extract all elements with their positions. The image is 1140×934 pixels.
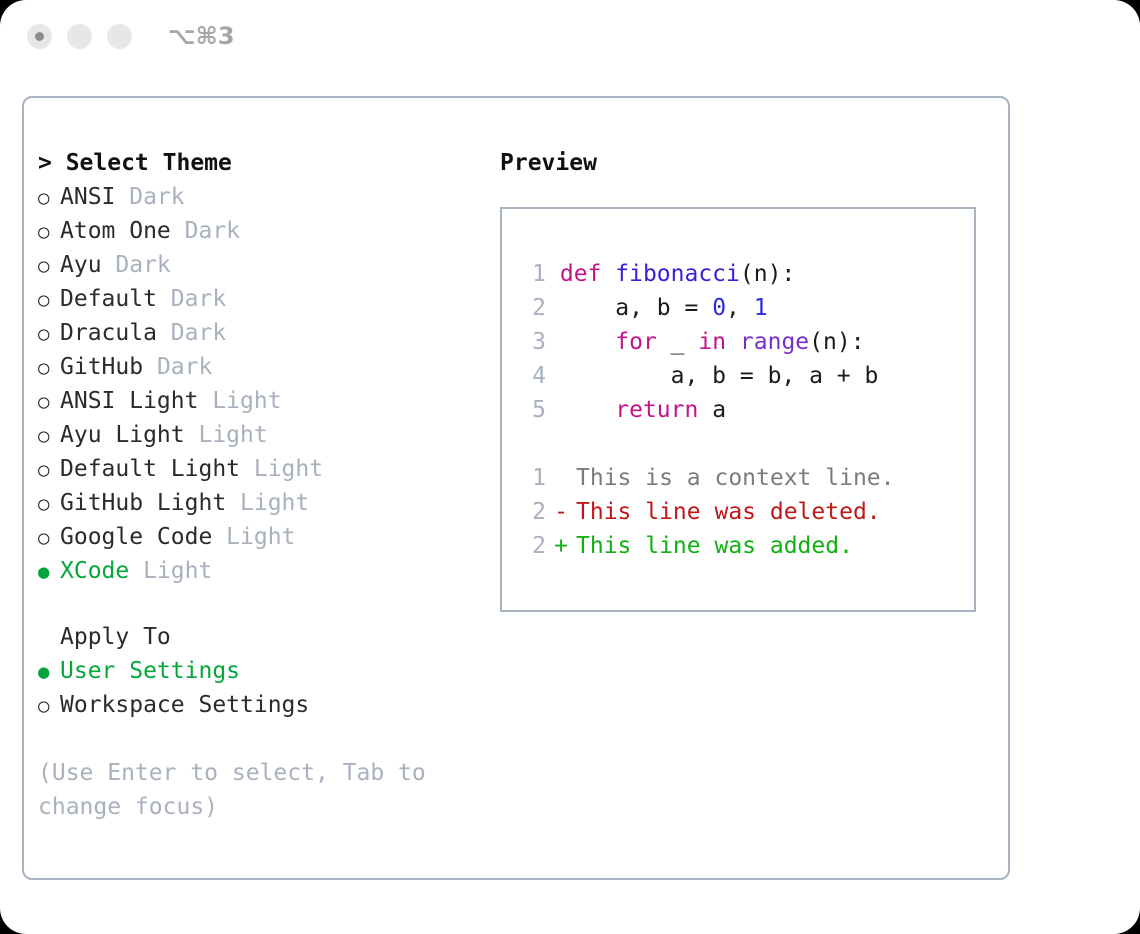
diff-text: This is a context line. [576, 465, 895, 491]
radio-icon: ○ [38, 419, 60, 453]
theme-option-variant-tag: Light [198, 384, 281, 418]
radio-icon: ○ [38, 689, 60, 723]
code-token: , [726, 295, 754, 321]
preview-column: Preview 1 def fibonacci(n):2 a, b = 0, 1… [500, 146, 1000, 612]
code-line-number: 2 [524, 291, 546, 325]
code-token: (n): [809, 329, 864, 355]
code-token: range [740, 329, 809, 355]
theme-option[interactable]: ○Google Code Light [38, 520, 498, 554]
theme-option[interactable]: ○Ayu Dark [38, 248, 498, 282]
radio-icon: ○ [38, 249, 60, 283]
theme-option[interactable]: ○ANSI Dark [38, 180, 498, 214]
code-token: 1 [754, 295, 768, 321]
diff-line-number: 1 [524, 461, 546, 495]
theme-option-label: ANSI Light [60, 384, 198, 418]
theme-option-variant-tag: Light [185, 418, 268, 452]
theme-option[interactable]: ○GitHub Light Light [38, 486, 498, 520]
diff-line: 2-This line was deleted. [524, 495, 895, 529]
theme-option-variant-tag: Dark [157, 316, 226, 350]
theme-option-label: Atom One [60, 214, 171, 248]
theme-list: ○ANSI Dark○Atom One Dark○Ayu Dark○Defaul… [38, 180, 498, 588]
radio-icon: ○ [38, 351, 60, 385]
diff-line-number: 2 [524, 529, 546, 563]
keyboard-hint-text: (Use Enter to select, Tab to change focu… [38, 756, 448, 824]
theme-option-label: Dracula [60, 316, 157, 350]
theme-option-variant-tag: Dark [115, 180, 184, 214]
diff-text: This line was added. [576, 533, 853, 559]
theme-option-variant-tag: Dark [143, 350, 212, 384]
diff-sign: + [546, 529, 576, 563]
code-token: a, b = [560, 295, 712, 321]
code-token: def [560, 261, 615, 287]
theme-option[interactable]: ○Default Light Light [38, 452, 498, 486]
apply-to-option[interactable]: ○Workspace Settings [38, 688, 498, 722]
diff-sample: 1 This is a context line.2-This line was… [524, 461, 895, 563]
theme-option-variant-tag: Light [226, 486, 309, 520]
apply-to-list: ●User Settings○Workspace Settings [38, 654, 498, 722]
preview-heading: Preview [500, 146, 1000, 180]
theme-option[interactable]: ●XCode Light [38, 554, 498, 588]
code-line-number: 1 [524, 257, 546, 291]
theme-option[interactable]: ○GitHub Dark [38, 350, 498, 384]
radio-icon: ○ [38, 521, 60, 555]
keyboard-shortcut-label: ⌥⌘3 [168, 22, 235, 50]
code-token: a, b = b, a + b [560, 363, 879, 389]
select-theme-heading: > Select Theme [38, 146, 498, 180]
radio-icon: ○ [38, 317, 60, 351]
code-line: 5 return a [524, 393, 878, 427]
apply-to-option-label: User Settings [60, 654, 240, 688]
app-window: ⌥⌘3 > Select Theme ○ANSI Dark○Atom One D… [0, 0, 1140, 934]
code-token [726, 329, 740, 355]
theme-option[interactable]: ○Default Dark [38, 282, 498, 316]
theme-option-label: GitHub Light [60, 486, 226, 520]
code-line: 3 for _ in range(n): [524, 325, 878, 359]
code-line-number: 4 [524, 359, 546, 393]
theme-option-label: Default [60, 282, 157, 316]
theme-option-label: XCode [60, 554, 129, 588]
radio-icon: ○ [38, 181, 60, 215]
theme-option-variant-tag: Light [129, 554, 212, 588]
code-line: 2 a, b = 0, 1 [524, 291, 878, 325]
theme-option-variant-tag: Dark [157, 282, 226, 316]
code-line-number: 5 [524, 393, 546, 427]
diff-text: This line was deleted. [576, 499, 881, 525]
theme-option-label: GitHub [60, 350, 143, 384]
theme-option-label: Ayu [60, 248, 102, 282]
window-controls [27, 24, 132, 49]
theme-option-variant-tag: Dark [102, 248, 171, 282]
code-line: 1 def fibonacci(n): [524, 257, 878, 291]
code-token: a [698, 397, 726, 423]
theme-option-label: Google Code [60, 520, 212, 554]
theme-option-variant-tag: Light [212, 520, 295, 554]
window-titlebar: ⌥⌘3 [0, 0, 1140, 78]
radio-selected-icon: ● [38, 555, 60, 589]
radio-icon: ○ [38, 385, 60, 419]
code-line-number: 3 [524, 325, 546, 359]
radio-icon: ○ [38, 215, 60, 249]
diff-line-number: 2 [524, 495, 546, 529]
radio-icon: ○ [38, 283, 60, 317]
apply-to-option-label: Workspace Settings [60, 688, 309, 722]
code-token: for [615, 329, 657, 355]
code-token [560, 329, 615, 355]
theme-option-variant-tag: Light [240, 452, 323, 486]
theme-option[interactable]: ○Ayu Light Light [38, 418, 498, 452]
code-token: return [615, 397, 698, 423]
code-token: fibonacci [615, 261, 740, 287]
diff-line: 1 This is a context line. [524, 461, 895, 495]
radio-icon: ○ [38, 453, 60, 487]
window-dot-second[interactable] [67, 24, 92, 49]
theme-option[interactable]: ○Dracula Dark [38, 316, 498, 350]
code-line: 4 a, b = b, a + b [524, 359, 878, 393]
preview-box: 1 def fibonacci(n):2 a, b = 0, 13 for _ … [500, 207, 976, 612]
apply-to-label: Apply To [60, 620, 171, 654]
diff-sign: - [546, 495, 576, 529]
code-token: 0 [712, 295, 726, 321]
radio-selected-icon: ● [38, 655, 60, 689]
diff-line: 2+This line was added. [524, 529, 895, 563]
theme-option[interactable]: ○Atom One Dark [38, 214, 498, 248]
code-sample: 1 def fibonacci(n):2 a, b = 0, 13 for _ … [524, 257, 878, 427]
main-panel: > Select Theme ○ANSI Dark○Atom One Dark○… [22, 96, 1010, 880]
apply-to-heading: Apply To [38, 620, 498, 654]
code-token: in [698, 329, 726, 355]
window-dot-inner-icon [35, 32, 44, 41]
code-token: _ [657, 329, 699, 355]
code-token [560, 397, 615, 423]
window-dot-active[interactable] [27, 24, 52, 49]
theme-option-label: Ayu Light [60, 418, 185, 452]
apply-to-option[interactable]: ●User Settings [38, 654, 498, 688]
diff-sign [546, 461, 576, 495]
theme-option-label: ANSI [60, 180, 115, 214]
code-token: (n): [740, 261, 795, 287]
theme-option[interactable]: ○ANSI Light Light [38, 384, 498, 418]
theme-option-variant-tag: Dark [171, 214, 240, 248]
radio-icon: ○ [38, 487, 60, 521]
theme-option-label: Default Light [60, 452, 240, 486]
theme-picker-column: > Select Theme ○ANSI Dark○Atom One Dark○… [38, 146, 498, 824]
window-dot-third[interactable] [107, 24, 132, 49]
